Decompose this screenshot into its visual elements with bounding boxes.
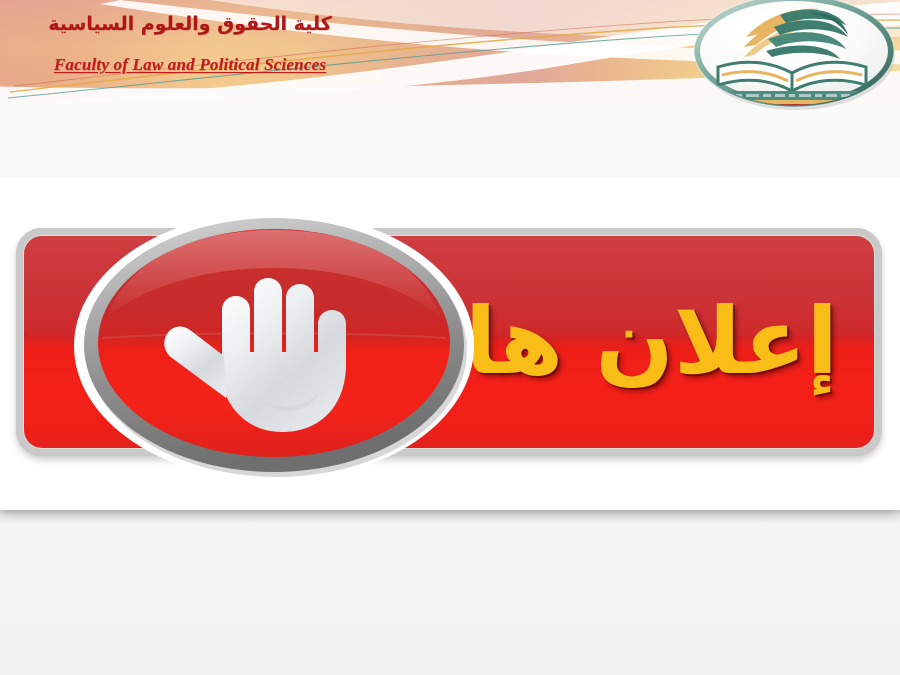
- stop-hand-icon: [68, 206, 480, 484]
- card-drop-shadow: [0, 508, 900, 524]
- university-emblem-logo: [688, 0, 900, 111]
- faculty-name-english: Faculty of Law and Political Sciences: [0, 55, 380, 75]
- faculty-name-arabic: كلية الحقوق والعلوم السياسية: [0, 14, 380, 35]
- faculty-title-block: كلية الحقوق والعلوم السياسية Faculty of …: [0, 14, 380, 75]
- slide-canvas: كلية الحقوق والعلوم السياسية Faculty of …: [0, 0, 900, 675]
